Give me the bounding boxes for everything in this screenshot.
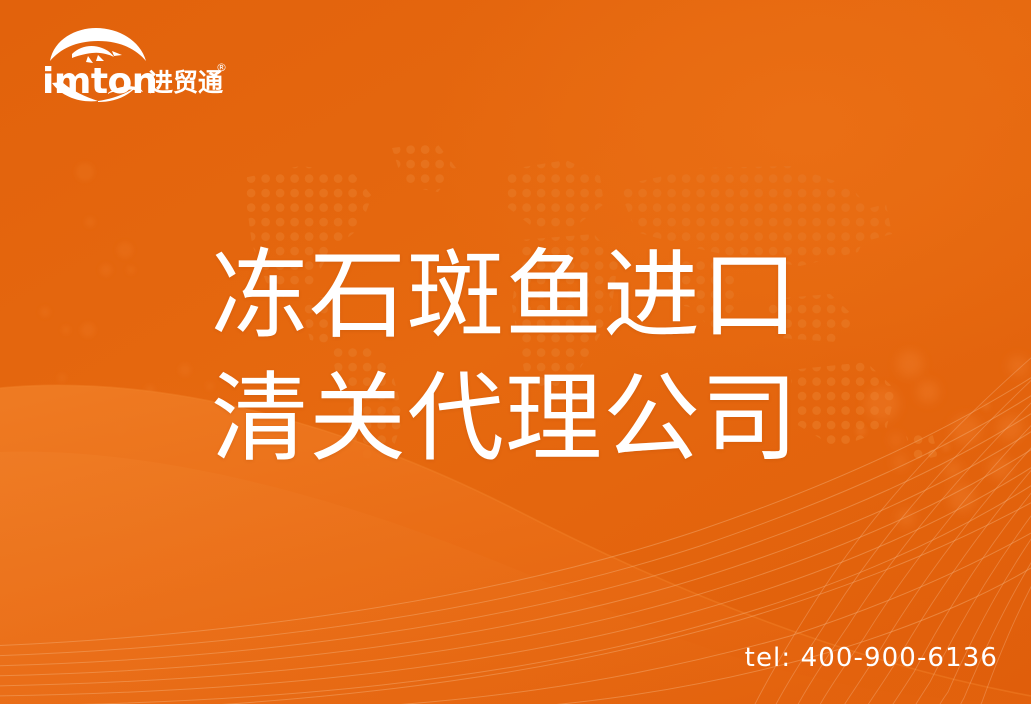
headline-line-1: 冻石斑鱼进口 [211, 234, 851, 357]
registered-trademark-icon: ® [216, 61, 226, 74]
globe-arc-icon [50, 28, 146, 63]
telephone-text: tel: 400-900-6136 [745, 643, 998, 673]
promo-banner: imton 进贸通 imton 进贸通 ® 冻石斑鱼进口 清关代理公司 tel:… [0, 0, 1031, 704]
logo-latin-text: imton [42, 61, 157, 102]
logo-chinese-text: 进贸通 [148, 68, 223, 97]
headline-line-2: 清关代理公司 [211, 357, 851, 480]
brand-logo[interactable]: imton 进贸通 imton 进贸通 ® [36, 27, 226, 103]
headline: 冻石斑鱼进口 清关代理公司 [211, 234, 851, 480]
